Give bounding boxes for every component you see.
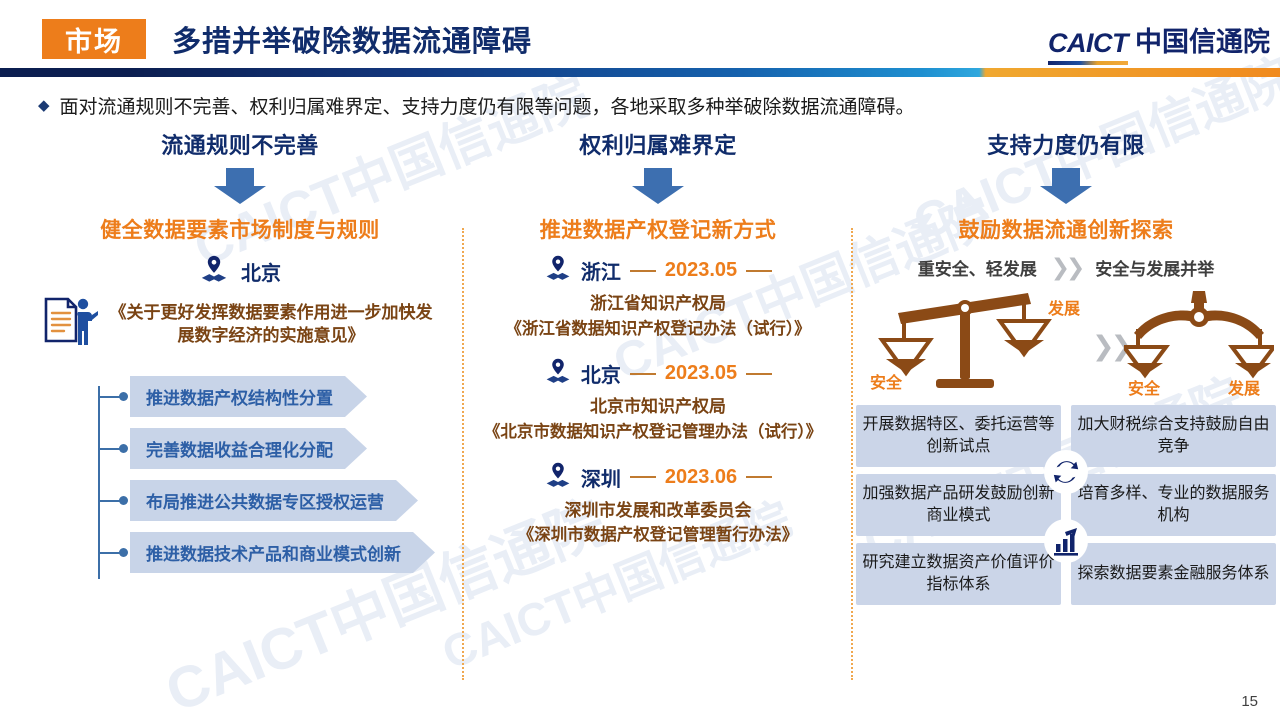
entry-header: 浙江 2023.05 bbox=[468, 254, 848, 287]
column-quanli-guishu: 权利归属难界定 推进数据产权登记新方式 浙江 2023.05 bbox=[468, 128, 848, 562]
list-item[interactable]: 推进数据产权结构性分置 bbox=[98, 376, 458, 417]
scale-right-left-label: 安全 bbox=[1128, 375, 1160, 399]
grid-cell[interactable]: 探索数据要素金融服务体系 bbox=[1071, 543, 1276, 605]
page-header: 市场 多措并举破除数据流通障碍 CAICT 中国信通院 bbox=[0, 0, 1280, 78]
entry-header: 深圳 2023.06 bbox=[468, 461, 848, 494]
registration-entry: 深圳 2023.06 深圳市发展和改革委员会 《深圳市数据产权登记管理暂行办法》 bbox=[468, 461, 848, 548]
entry-header: 北京 2023.05 bbox=[468, 357, 848, 390]
column-liutong-guize: 流通规则不完善 健全数据要素市场制度与规则 北京 bbox=[20, 128, 460, 584]
caict-logo-mark: CAICT bbox=[1048, 28, 1128, 65]
caict-logo-underline bbox=[1048, 61, 1128, 65]
bar-chart-icon bbox=[1044, 519, 1088, 563]
grid-cell[interactable]: 开展数据特区、委托运营等创新试点 bbox=[856, 405, 1061, 467]
header-divider-bar bbox=[0, 68, 1280, 77]
caict-logo-cn: 中国信通院 bbox=[1135, 20, 1270, 65]
document-title: 《关于更好发挥数据要素作用进一步加快发展数字经济的实施意见》 bbox=[106, 302, 436, 348]
measure-label: 推进数据技术产品和商业模式创新 bbox=[130, 532, 435, 573]
diamond-bullet-icon: ◆ bbox=[38, 98, 50, 113]
measures-list: 推进数据产权结构性分置 完善数据收益合理化分配 布局推进公共数据专区授权运营 推… bbox=[98, 376, 458, 573]
page-number: 15 bbox=[1241, 693, 1258, 710]
map-pin-icon bbox=[544, 357, 572, 390]
entry-org: 浙江省知识产权局 bbox=[468, 291, 848, 317]
comparison-before-label: 重安全、轻发展 bbox=[918, 255, 1037, 280]
registration-entry: 浙江 2023.05 浙江省知识产权局 《浙江省数据知识产权登记办法（试行）》 bbox=[468, 254, 848, 341]
entry-document: 《深圳市数据产权登记管理暂行办法》 bbox=[468, 523, 848, 548]
grid-cell[interactable]: 加大财税综合支持鼓励自由竞争 bbox=[1071, 405, 1276, 467]
section-badge: 市场 bbox=[42, 19, 146, 59]
entry-document: 《浙江省数据知识产权登记办法（试行）》 bbox=[468, 317, 848, 342]
bullet-dot-icon bbox=[119, 548, 128, 557]
entry-date: 2023.05 bbox=[665, 362, 737, 385]
map-pin-icon bbox=[544, 461, 572, 494]
measure-label: 完善数据收益合理化分配 bbox=[130, 428, 367, 469]
grid-cell[interactable]: 培育多样、专业的数据服务机构 bbox=[1071, 474, 1276, 536]
problem-title: 权利归属难界定 bbox=[468, 128, 848, 160]
dash-right bbox=[746, 373, 772, 375]
comparison-row: 重安全、轻发展 ❯❯ 安全与发展并举 bbox=[856, 254, 1276, 281]
grid-cell[interactable]: 研究建立数据资产价值评价指标体系 bbox=[856, 543, 1061, 605]
list-item[interactable]: 完善数据收益合理化分配 bbox=[98, 428, 458, 469]
intro-bullet-text: 面对流通规则不完善、权利归属难界定、支持力度仍有限等问题，各地采取多种举破除数据… bbox=[60, 92, 915, 119]
solution-title: 鼓励数据流通创新探索 bbox=[856, 214, 1276, 244]
unbalanced-scale-icon bbox=[878, 287, 1058, 397]
down-arrow-icon bbox=[856, 166, 1276, 206]
map-pin-icon bbox=[544, 254, 572, 287]
column-zhichi-lidu: 支持力度仍有限 鼓励数据流通创新探索 重安全、轻发展 ❯❯ 安全与发展并举 bbox=[856, 128, 1276, 605]
intro-bullet: ◆ 面对流通规则不完善、权利归属难界定、支持力度仍有限等问题，各地采取多种举破除… bbox=[38, 92, 1258, 119]
bullet-dot-icon bbox=[119, 496, 128, 505]
problem-title: 支持力度仍有限 bbox=[856, 128, 1276, 160]
recycle-icon bbox=[1044, 450, 1088, 494]
document-person-icon bbox=[38, 291, 100, 358]
city-row: 北京 bbox=[20, 254, 460, 289]
double-chevron-right-icon: ❯❯ bbox=[1051, 254, 1082, 281]
dash-left bbox=[630, 476, 656, 478]
measure-label: 推进数据产权结构性分置 bbox=[130, 376, 367, 417]
registration-entry: 北京 2023.05 北京市知识产权局 《北京市数据知识产权登记管理办法（试行）… bbox=[468, 357, 848, 444]
columns-container: 流通规则不完善 健全数据要素市场制度与规则 北京 bbox=[0, 128, 1280, 698]
city-name: 北京 bbox=[241, 257, 281, 286]
city-name: 浙江 bbox=[581, 256, 621, 285]
down-arrow-icon bbox=[468, 166, 848, 206]
entry-date: 2023.05 bbox=[665, 259, 737, 282]
grid-cell[interactable]: 加强数据产品研发鼓励创新商业模式 bbox=[856, 474, 1061, 536]
entry-org: 北京市知识产权局 bbox=[468, 394, 848, 420]
comparison-after-label: 安全与发展并举 bbox=[1095, 255, 1214, 280]
city-name: 北京 bbox=[581, 359, 621, 388]
map-pin-icon bbox=[199, 254, 229, 289]
list-item[interactable]: 推进数据技术产品和商业模式创新 bbox=[98, 532, 458, 573]
measures-grid: 开展数据特区、委托运营等创新试点 加大财税综合支持鼓励自由竞争 加强数据产品研发… bbox=[856, 405, 1276, 605]
page-title: 多措并举破除数据流通障碍 bbox=[172, 18, 532, 60]
dash-left bbox=[630, 373, 656, 375]
caict-logo: CAICT 中国信通院 bbox=[1048, 20, 1270, 65]
scale-left-low-label: 安全 bbox=[870, 369, 902, 393]
bullet-dot-icon bbox=[119, 392, 128, 401]
entry-document: 《北京市数据知识产权登记管理办法（试行）》 bbox=[458, 420, 848, 445]
bullet-dot-icon bbox=[119, 444, 128, 453]
solution-title: 健全数据要素市场制度与规则 bbox=[20, 214, 460, 244]
list-item[interactable]: 布局推进公共数据专区授权运营 bbox=[98, 480, 458, 521]
entry-org: 深圳市发展和改革委员会 bbox=[468, 498, 848, 524]
scales-illustration: 安全 发展 ❯❯ 安全 发展 bbox=[856, 283, 1276, 401]
dash-left bbox=[630, 270, 656, 272]
scale-right-right-label: 发展 bbox=[1228, 375, 1260, 399]
down-arrow-icon bbox=[20, 166, 460, 206]
dash-right bbox=[746, 476, 772, 478]
document-row: 《关于更好发挥数据要素作用进一步加快发展数字经济的实施意见》 bbox=[38, 291, 460, 358]
dash-right bbox=[746, 270, 772, 272]
scale-left-high-label: 发展 bbox=[1048, 295, 1080, 319]
measure-label: 布局推进公共数据专区授权运营 bbox=[130, 480, 418, 521]
city-name: 深圳 bbox=[581, 463, 621, 492]
solution-title: 推进数据产权登记新方式 bbox=[468, 214, 848, 244]
problem-title: 流通规则不完善 bbox=[20, 128, 460, 160]
entry-date: 2023.06 bbox=[665, 466, 737, 489]
caict-logo-en: CAICT bbox=[1048, 28, 1128, 58]
